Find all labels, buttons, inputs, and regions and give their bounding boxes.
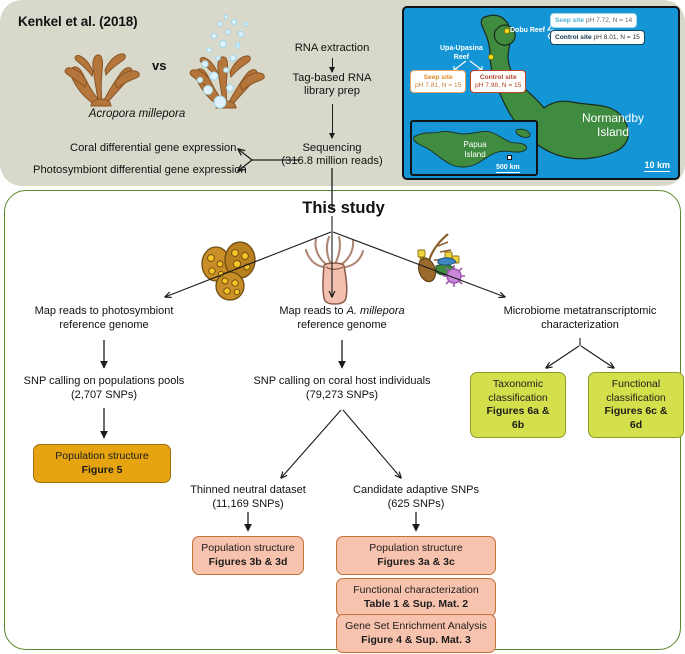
functional-class-ref: Figures 6c & 6d <box>597 405 675 432</box>
node-map-reads-photosymbiont-line1: Map reads to photosymbiont <box>6 305 202 319</box>
inset-location-marker <box>507 155 512 160</box>
candidate-line2: (625 SNPs) <box>340 498 492 512</box>
papua-line2: Island <box>446 150 504 160</box>
functional-class-title-line1: Functional <box>597 378 675 392</box>
map-inset-papua: Papua Island 500 km <box>410 120 538 176</box>
microbiome-community-icon <box>404 232 468 296</box>
taxonomic-title-line1: Taxonomic <box>479 378 557 392</box>
site-dot-upa-upasina <box>488 54 494 60</box>
node-microbiome-line2: characterization <box>482 319 678 333</box>
map-scalebar-main: 10 km <box>644 160 670 172</box>
callout-dobu-seep: Seep site pH 7.72, N = 14 <box>550 13 637 28</box>
map-scalebar-inset: 500 km <box>496 164 520 173</box>
node-candidate-adaptive-snps: Candidate adaptive SNPs (625 SNPs) <box>340 484 492 511</box>
thinned-line2: (11,169 SNPs) <box>176 498 320 512</box>
study-site-map: Dobu Reef Seep site pH 7.72, N = 14 Cont… <box>402 6 680 180</box>
callout-upa-seep-type: Seep site <box>424 74 453 81</box>
callout-upa-control: Control site pH 7.98, N = 15 <box>470 70 526 93</box>
gsea-ref: Figure 4 & Sup. Mat. 3 <box>345 634 487 648</box>
map-reads-species: A. millepora <box>347 305 405 317</box>
callout-dobu-seep-type: Seep site <box>555 17 584 24</box>
result-box-taxonomic-classification[interactable]: Taxonomic classification Figures 6a & 6b <box>470 372 566 438</box>
node-microbiome-line1: Microbiome metatranscriptomic <box>482 305 678 319</box>
node-snp-host-line1: SNP calling on coral host individuals <box>232 375 452 389</box>
map-label-papua-island: Papua Island <box>446 140 504 159</box>
result-box-gene-set-enrichment[interactable]: Gene Set Enrichment Analysis Figure 4 & … <box>336 614 496 653</box>
result-box-functional-characterization[interactable]: Functional characterization Table 1 & Su… <box>336 578 496 617</box>
callout-upa-control-type: Control site <box>480 74 517 81</box>
figure-canvas: Kenkel et al. (2018) vs <box>0 0 685 654</box>
node-thinned-neutral-dataset: Thinned neutral dataset (11,169 SNPs) <box>176 484 320 511</box>
node-snp-host-individuals: SNP calling on coral host individuals (7… <box>232 375 452 402</box>
species-name: Acropora millepora <box>57 108 217 120</box>
step-library-prep-line1: Tag-based RNA <box>272 72 392 85</box>
node-map-reads-amillepora-line1: Map reads to A. millepora <box>252 305 432 319</box>
node-snp-host-line2: (79,273 SNPs) <box>232 389 452 403</box>
node-map-reads-amillepora-line2: reference genome <box>252 319 432 333</box>
ps-3a3c-ref: Figures 3a & 3c <box>345 556 487 570</box>
node-snp-pools: SNP calling on populations pools (2,707 … <box>4 375 204 402</box>
node-microbiome-characterization: Microbiome metatranscriptomic characteri… <box>482 305 678 332</box>
arrow-rna-to-libprep <box>332 58 333 72</box>
result-box-population-structure-3b3d[interactable]: Population structure Figures 3b & 3d <box>192 536 304 575</box>
candidate-line1: Candidate adaptive SNPs <box>340 484 492 498</box>
callout-upa-seep-value: pH 7.81, N = 15 <box>415 82 461 89</box>
thinned-line1: Thinned neutral dataset <box>176 484 320 498</box>
map-label-dobu-reef: Dobu Reef <box>510 27 545 36</box>
step-rna-extraction: RNA extraction <box>272 42 392 55</box>
papua-line1: Papua <box>446 140 504 150</box>
node-map-reads-amillepora: Map reads to A. millepora reference geno… <box>252 305 432 332</box>
vs-label: vs <box>152 58 166 73</box>
callout-dobu-control: Control site pH 8.01, N = 15 <box>550 30 645 45</box>
ps-3a3c-title: Population structure <box>345 542 487 556</box>
step-sequencing: Sequencing (316.8 million reads) <box>262 142 402 168</box>
normandby-line2: Island <box>564 126 662 140</box>
node-snp-pools-line1: SNP calling on populations pools <box>4 375 204 389</box>
result-box-population-structure-fig5[interactable]: Population structure Figure 5 <box>33 444 171 483</box>
arrow-libprep-to-sequencing <box>332 104 333 138</box>
result-box-population-structure-3a3c[interactable]: Population structure Figures 3a & 3c <box>336 536 496 575</box>
gsea-title: Gene Set Enrichment Analysis <box>345 620 487 634</box>
result-box-fig5-ref: Figure 5 <box>42 464 162 478</box>
callout-dobu-control-type: Control site <box>555 34 592 41</box>
normandby-line1: Normandby <box>564 112 662 126</box>
map-reads-prefix: Map reads to <box>279 305 346 317</box>
map-label-upa-line1: Upa-Upasina <box>440 45 483 54</box>
result-box-functional-classification[interactable]: Functional classification Figures 6c & 6… <box>588 372 684 438</box>
taxonomic-ref: Figures 6a & 6b <box>479 405 557 432</box>
callout-upa-seep: Seep site pH 7.81, N = 15 <box>410 70 466 93</box>
coral-branch-icon <box>57 42 145 108</box>
photosymbiont-cells-icon <box>194 240 266 302</box>
func-char-ref: Table 1 & Sup. Mat. 2 <box>345 598 487 612</box>
ps-3b3d-ref: Figures 3b & 3d <box>201 556 295 570</box>
kenkel-panel-title: Kenkel et al. (2018) <box>18 14 138 29</box>
functional-class-title-line2: classification <box>597 392 675 406</box>
step-library-prep: Tag-based RNA library prep <box>272 72 392 98</box>
callout-upa-control-value: pH 7.98, N = 15 <box>475 82 521 89</box>
ps-3b3d-title: Population structure <box>201 542 295 556</box>
output-photosymbiont-dge: Photosymbiont differential gene expressi… <box>33 164 247 176</box>
map-label-normandby-island: Normandby Island <box>564 112 662 139</box>
step-library-prep-line2: library prep <box>272 85 392 98</box>
taxonomic-title-line2: classification <box>479 392 557 406</box>
callout-dobu-control-value: pH 8.01, N = 15 <box>593 34 639 41</box>
func-char-title: Functional characterization <box>345 584 487 598</box>
node-map-reads-photosymbiont: Map reads to photosymbiont reference gen… <box>6 305 202 332</box>
coral-polyp-icon <box>302 234 368 306</box>
result-box-fig5-title: Population structure <box>42 450 162 464</box>
step-sequencing-line2: (316.8 million reads) <box>262 155 402 168</box>
output-coral-dge: Coral differential gene expression <box>70 142 236 154</box>
this-study-title: This study <box>5 199 682 218</box>
step-sequencing-line1: Sequencing <box>262 142 402 155</box>
node-snp-pools-line2: (2,707 SNPs) <box>4 389 204 403</box>
callout-dobu-seep-value: pH 7.72, N = 14 <box>586 17 632 24</box>
coral-branch-with-bubbles-icon <box>178 14 278 110</box>
node-map-reads-photosymbiont-line2: reference genome <box>6 319 202 333</box>
